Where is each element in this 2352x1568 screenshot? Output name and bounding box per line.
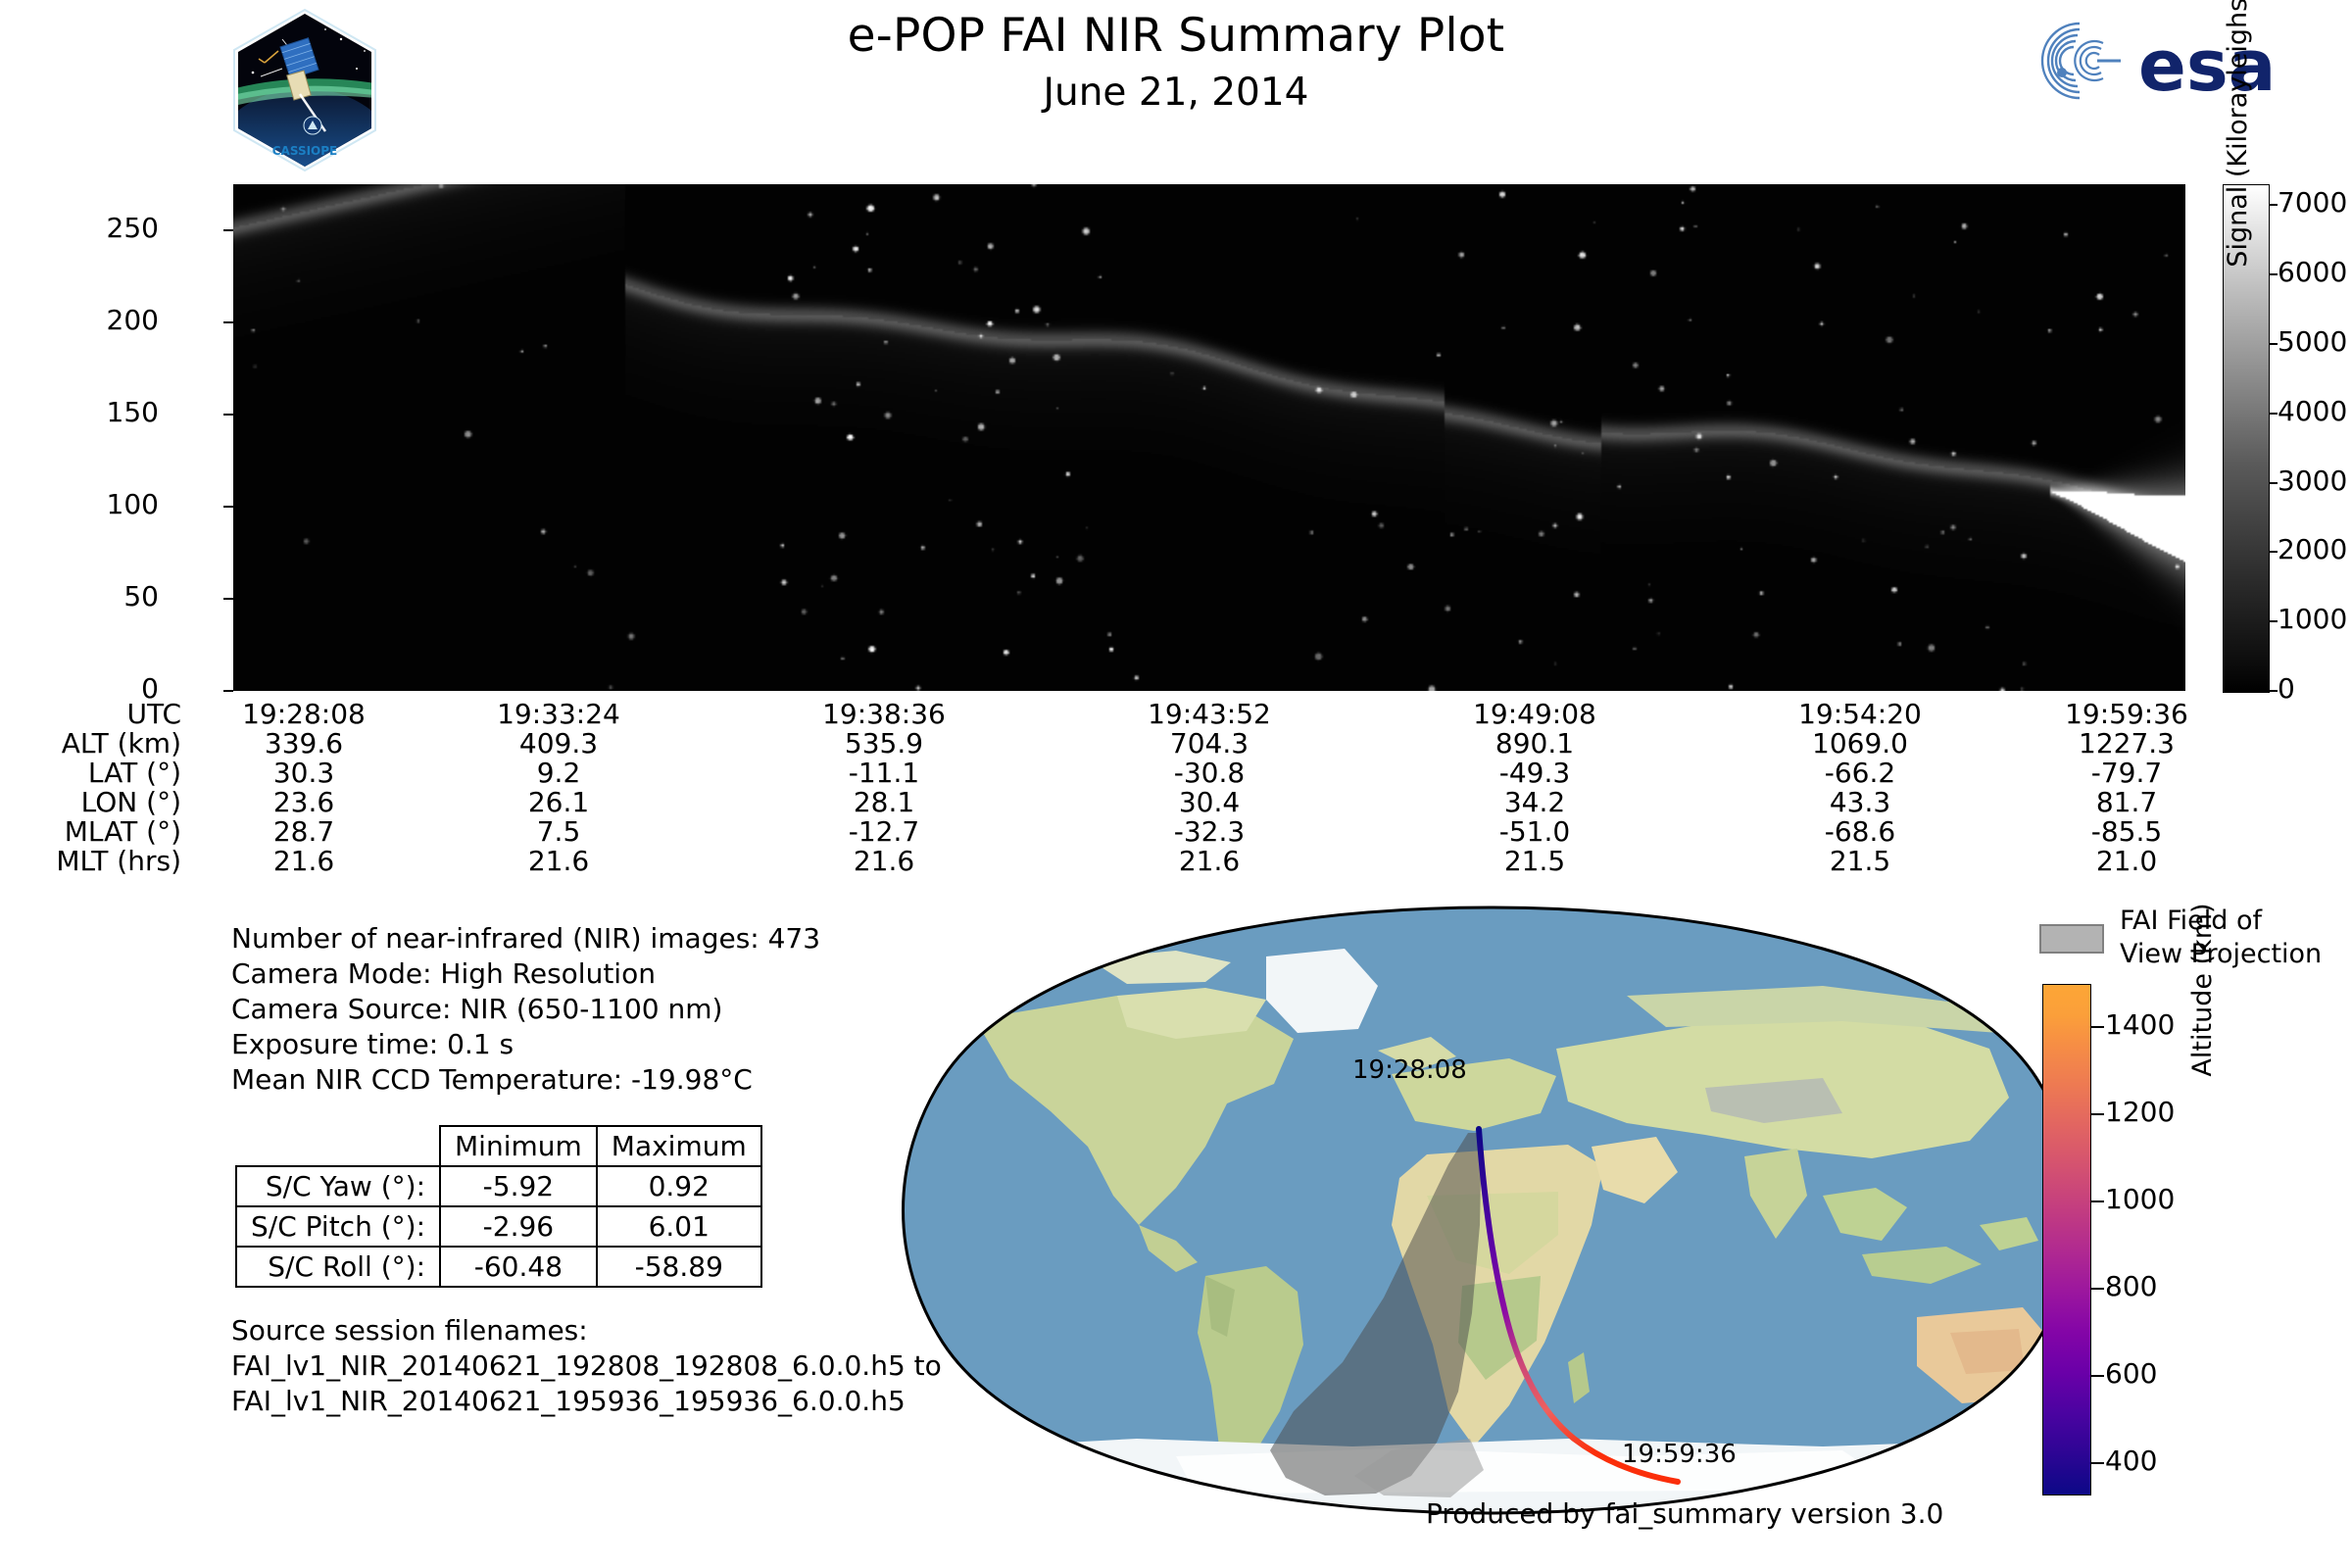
signal-colorbar-tick-mark: [2269, 620, 2278, 622]
keogram-ytick-mark: [223, 506, 233, 508]
signal-colorbar-tick-mark: [2269, 551, 2278, 553]
altitude-colorbar-tick-label: 1200: [2105, 1096, 2175, 1128]
signal-colorbar-tick-mark: [2269, 690, 2278, 692]
signal-colorbar-label: Signal (Kilorayleighs): [2223, 0, 2253, 284]
altitude-colorbar-tick-mark: [2090, 1462, 2104, 1464]
ephemeris-cell: 21.5: [1427, 845, 1642, 877]
ephemeris-cell: 21.6: [776, 845, 992, 877]
ephemeris-cell: 1069.0: [1752, 727, 1968, 759]
ephemeris-cell: -79.7: [2019, 757, 2234, 789]
ephemeris-cell: 21.6: [451, 845, 666, 877]
signal-colorbar-tick-label: 4000: [2278, 395, 2347, 427]
signal-colorbar-tick-label: 7000: [2278, 186, 2347, 219]
keogram-ytick-mark: [223, 598, 233, 600]
ephemeris-cell: 409.3: [451, 727, 666, 759]
ephemeris-cell: 19:43:52: [1102, 698, 1317, 730]
attitude-cell: 6.01: [597, 1206, 761, 1247]
signal-colorbar-tick-label: 6000: [2278, 256, 2347, 288]
ephemeris-cell: -49.3: [1427, 757, 1642, 789]
ephemeris-cell: 7.5: [451, 815, 666, 848]
keogram-ytick-mark: [223, 321, 233, 323]
fov-legend-swatch: [2039, 924, 2104, 954]
ephemeris-cell: 26.1: [451, 786, 666, 818]
attitude-cell: -2.96: [440, 1206, 597, 1247]
attitude-row: S/C Pitch (°):-2.966.01: [236, 1206, 761, 1247]
ephemeris-cell: 890.1: [1427, 727, 1642, 759]
signal-colorbar-tick-label: 1000: [2278, 603, 2347, 635]
altitude-colorbar-tick-mark: [2090, 1200, 2104, 1202]
camera-info-line: Mean NIR CCD Temperature: -19.98°C: [231, 1062, 820, 1098]
source-filename-line: FAI_lv1_NIR_20140621_192808_192808_6.0.0…: [231, 1348, 942, 1384]
keogram-ytick-label: 200: [41, 304, 159, 336]
ephemeris-row-label: MLAT (°): [0, 815, 181, 848]
altitude-colorbar-tick-label: 1400: [2105, 1008, 2175, 1041]
orbit-map-svg: [882, 902, 2097, 1519]
fov-legend-label: FAI Field of View Projection: [2120, 905, 2322, 971]
ephemeris-cell: 21.5: [1752, 845, 1968, 877]
keogram-ytick-mark: [223, 690, 233, 692]
signal-colorbar-tick-label: 3000: [2278, 465, 2347, 497]
esa-logo-text: esa: [2138, 24, 2276, 107]
esa-logo: esa: [2019, 14, 2313, 108]
camera-info-line: Number of near-infrared (NIR) images: 47…: [231, 921, 820, 956]
cassiope-logo: CASSIOPE: [231, 8, 378, 172]
signal-colorbar-tick-mark: [2269, 482, 2278, 484]
keogram-image: [233, 184, 2185, 691]
keogram-ytick-mark: [223, 229, 233, 231]
signal-colorbar-tick-label: 2000: [2278, 533, 2347, 565]
attitude-header-cell: [236, 1126, 440, 1166]
orbit-map: [882, 902, 2097, 1519]
ephemeris-cell: 19:33:24: [451, 698, 666, 730]
ephemeris-cell: 21.6: [1102, 845, 1317, 877]
ephemeris-cell: 704.3: [1102, 727, 1317, 759]
camera-info-line: Camera Mode: High Resolution: [231, 956, 820, 992]
ephemeris-cell: 19:59:36: [2019, 698, 2234, 730]
attitude-header-cell: Maximum: [597, 1126, 761, 1166]
signal-colorbar-tick-mark: [2269, 204, 2278, 206]
source-filename-line: Source session filenames:: [231, 1313, 942, 1348]
ephemeris-cell: 9.2: [451, 757, 666, 789]
ephemeris-cell: 23.6: [196, 786, 412, 818]
ephemeris-row: LAT (°)30.39.2-11.1-30.8-49.3-66.2-79.7: [0, 757, 2352, 786]
ephemeris-cell: 19:54:20: [1752, 698, 1968, 730]
signal-colorbar-tick-label: 5000: [2278, 325, 2347, 358]
source-filename-line: FAI_lv1_NIR_20140621_195936_195936_6.0.0…: [231, 1384, 942, 1419]
ephemeris-cell: 30.4: [1102, 786, 1317, 818]
attitude-cell: S/C Yaw (°):: [236, 1166, 440, 1206]
map-content: [882, 902, 2097, 1519]
map-start-time-label: 19:28:08: [1352, 1055, 1467, 1085]
altitude-colorbar-tick-label: 1000: [2105, 1183, 2175, 1215]
altitude-colorbar-label: Altitude (km): [2187, 843, 2218, 1137]
camera-info-line: Exposure time: 0.1 s: [231, 1027, 820, 1062]
ephemeris-cell: 34.2: [1427, 786, 1642, 818]
ephemeris-cell: 28.1: [776, 786, 992, 818]
ephemeris-cell: 81.7: [2019, 786, 2234, 818]
ephemeris-cell: 30.3: [196, 757, 412, 789]
keogram-ytick-label: 50: [41, 580, 159, 612]
attitude-row: S/C Yaw (°):-5.920.92: [236, 1166, 761, 1206]
signal-colorbar-tick-mark: [2269, 273, 2278, 275]
ephemeris-row: LON (°)23.626.128.130.434.243.381.7: [0, 786, 2352, 815]
attitude-header-cell: Minimum: [440, 1126, 597, 1166]
altitude-colorbar-tick-label: 800: [2105, 1270, 2157, 1302]
ephemeris-row: ALT (km)339.6409.3535.9704.3890.11069.01…: [0, 727, 2352, 757]
attitude-cell: 0.92: [597, 1166, 761, 1206]
ephemeris-cell: 1227.3: [2019, 727, 2234, 759]
keogram-ytick-label: 250: [41, 212, 159, 244]
ephemeris-cell: -32.3: [1102, 815, 1317, 848]
ephemeris-cell: -68.6: [1752, 815, 1968, 848]
altitude-colorbar-tick-mark: [2090, 1113, 2104, 1115]
camera-info-line: Camera Source: NIR (650-1100 nm): [231, 992, 820, 1027]
ephemeris-row-label: LON (°): [0, 786, 181, 818]
ephemeris-cell: 19:49:08: [1427, 698, 1642, 730]
altitude-colorbar: [2042, 984, 2091, 1495]
ephemeris-cell: 43.3: [1752, 786, 1968, 818]
ephemeris-row-label: UTC: [0, 698, 181, 730]
ephemeris-row-label: LAT (°): [0, 757, 181, 789]
ephemeris-cell: -11.1: [776, 757, 992, 789]
altitude-colorbar-tick-mark: [2090, 1375, 2104, 1377]
keogram-ytick-label: 100: [41, 488, 159, 520]
ephemeris-cell: 19:38:36: [776, 698, 992, 730]
cassiope-logo-caption: CASSIOPE: [272, 144, 338, 158]
altitude-colorbar-tick-label: 400: [2105, 1445, 2157, 1477]
altitude-colorbar-tick-label: 600: [2105, 1357, 2157, 1390]
attitude-table: MinimumMaximumS/C Yaw (°):-5.920.92S/C P…: [235, 1125, 762, 1288]
ephemeris-row-label: ALT (km): [0, 727, 181, 759]
ephemeris-row-label: MLT (hrs): [0, 845, 181, 877]
signal-colorbar-tick-mark: [2269, 413, 2278, 415]
ephemeris-cell: -66.2: [1752, 757, 1968, 789]
camera-info-block: Number of near-infrared (NIR) images: 47…: [231, 921, 820, 1098]
ephemeris-cell: -51.0: [1427, 815, 1642, 848]
ephemeris-table: UTC19:28:0819:33:2419:38:3619:43:5219:49…: [0, 698, 2352, 874]
ephemeris-row: MLT (hrs)21.621.621.621.621.521.521.0: [0, 845, 2352, 874]
keogram-ytick-mark: [223, 414, 233, 416]
ephemeris-cell: 19:28:08: [196, 698, 412, 730]
attitude-header-row: MinimumMaximum: [236, 1126, 761, 1166]
ephemeris-row: MLAT (°)28.77.5-12.7-32.3-51.0-68.6-85.5: [0, 815, 2352, 845]
ephemeris-cell: 28.7: [196, 815, 412, 848]
attitude-cell: S/C Roll (°):: [236, 1247, 440, 1287]
signal-colorbar-tick-mark: [2269, 343, 2278, 345]
ephemeris-cell: -30.8: [1102, 757, 1317, 789]
attitude-row: S/C Roll (°):-60.48-58.89: [236, 1247, 761, 1287]
ephemeris-cell: -12.7: [776, 815, 992, 848]
produced-by-caption: Produced by fai_summary version 3.0: [1426, 1497, 1943, 1530]
attitude-cell: S/C Pitch (°):: [236, 1206, 440, 1247]
attitude-cell: -5.92: [440, 1166, 597, 1206]
attitude-cell: -60.48: [440, 1247, 597, 1287]
map-end-time-label: 19:59:36: [1622, 1440, 1737, 1469]
ephemeris-row: UTC19:28:0819:33:2419:38:3619:43:5219:49…: [0, 698, 2352, 727]
keogram-ytick-label: 150: [41, 396, 159, 428]
altitude-colorbar-tick-mark: [2090, 1288, 2104, 1290]
ephemeris-cell: 535.9: [776, 727, 992, 759]
ephemeris-cell: 21.6: [196, 845, 412, 877]
altitude-colorbar-tick-mark: [2090, 1026, 2104, 1028]
attitude-cell: -58.89: [597, 1247, 761, 1287]
source-filenames-block: Source session filenames:FAI_lv1_NIR_201…: [231, 1313, 942, 1419]
ephemeris-cell: 339.6: [196, 727, 412, 759]
